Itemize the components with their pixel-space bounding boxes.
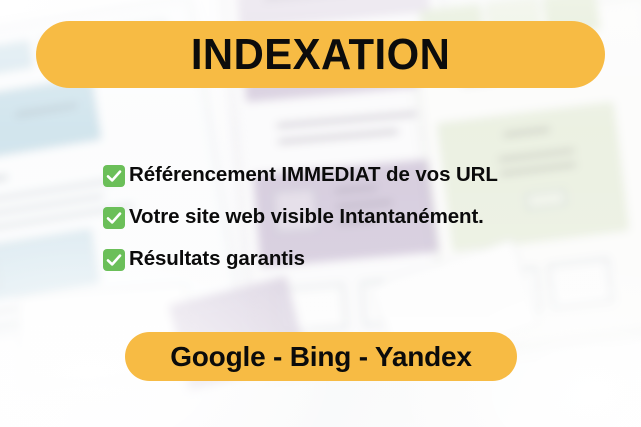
- benefits-list: Référencement IMMEDIAT de vos URL Votre …: [103, 155, 573, 281]
- benefit-label: Résultats garantis: [129, 249, 305, 270]
- search-engines-banner: Google - Bing - Yandex: [125, 332, 517, 381]
- check-square-icon: [103, 249, 125, 271]
- title-banner: INDEXATION: [36, 21, 605, 88]
- list-item: Référencement IMMEDIAT de vos URL: [103, 155, 573, 196]
- search-engines-label: Google - Bing - Yandex: [170, 343, 472, 371]
- page-title: INDEXATION: [191, 33, 450, 77]
- check-square-icon: [103, 165, 125, 187]
- benefit-label: Votre site web visible Intantanément.: [129, 207, 484, 228]
- list-item: Résultats garantis: [103, 239, 573, 280]
- indexation-poster: INDEXATION Référencement IMMEDIAT de vos…: [0, 0, 641, 427]
- benefit-label: Référencement IMMEDIAT de vos URL: [129, 165, 498, 186]
- list-item: Votre site web visible Intantanément.: [103, 197, 573, 238]
- poster-content: INDEXATION Référencement IMMEDIAT de vos…: [0, 0, 641, 427]
- check-square-icon: [103, 207, 125, 229]
